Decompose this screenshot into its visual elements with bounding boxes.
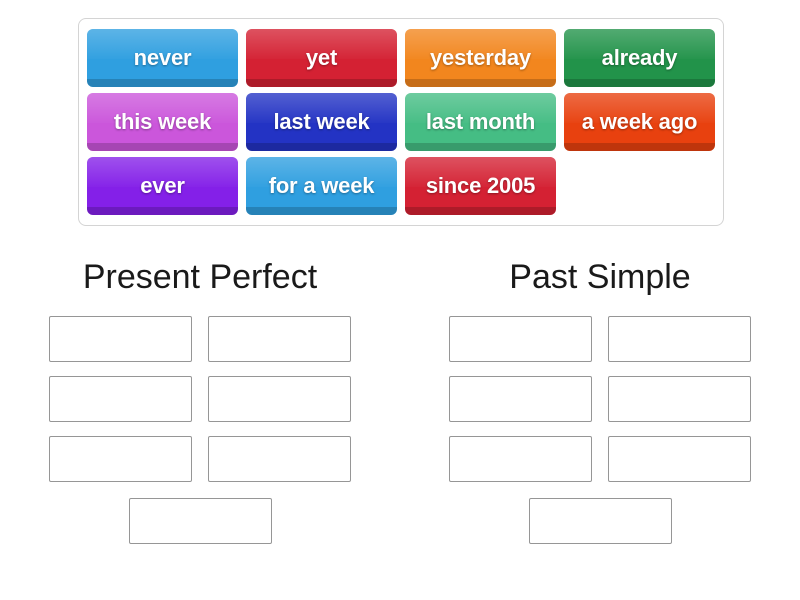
dropzone-slot[interactable] [449, 376, 592, 422]
dropzone-slot[interactable] [129, 498, 272, 544]
dropzone-slot[interactable] [608, 316, 751, 362]
category-column: Past Simple [400, 248, 800, 588]
word-tile[interactable]: this week [87, 93, 238, 151]
word-tile[interactable]: yet [246, 29, 397, 87]
category-column: Present Perfect [0, 248, 400, 588]
word-tile-label: yet [306, 45, 337, 71]
category-title: Present Perfect [83, 260, 317, 294]
word-tile-label: a week ago [582, 109, 697, 135]
dropzone-grid [445, 316, 755, 544]
dropzone-slot[interactable] [608, 376, 751, 422]
word-tile[interactable]: never [87, 29, 238, 87]
word-tile-label: already [602, 45, 678, 71]
dropzone-slot[interactable] [208, 316, 351, 362]
word-tile-label: yesterday [430, 45, 531, 71]
word-tile-label: ever [140, 173, 184, 199]
dropzone-slot[interactable] [449, 436, 592, 482]
word-tile-label: for a week [269, 173, 375, 199]
word-tile-label: last month [426, 109, 535, 135]
dropzone-slot[interactable] [449, 316, 592, 362]
tray-empty-slot [564, 157, 715, 215]
word-tile-label: never [134, 45, 192, 71]
dropzone-slot[interactable] [208, 436, 351, 482]
word-tile[interactable]: since 2005 [405, 157, 556, 215]
word-tile[interactable]: a week ago [564, 93, 715, 151]
word-tile[interactable]: already [564, 29, 715, 87]
dropzone-slot[interactable] [49, 316, 192, 362]
word-tile-tray: neveryetyesterdayalreadythis weeklast we… [78, 18, 724, 226]
dropzone-slot[interactable] [49, 376, 192, 422]
group-sort-activity: neveryetyesterdayalreadythis weeklast we… [0, 0, 800, 600]
word-tile[interactable]: yesterday [405, 29, 556, 87]
word-tile[interactable]: ever [87, 157, 238, 215]
tile-row: this weeklast weeklast montha week ago [87, 93, 715, 151]
tile-row: everfor a weeksince 2005 [87, 157, 715, 215]
dropzone-slot[interactable] [529, 498, 672, 544]
word-tile-label: last week [273, 109, 369, 135]
dropzone-slot[interactable] [208, 376, 351, 422]
word-tile[interactable]: last week [246, 93, 397, 151]
category-columns: Present PerfectPast Simple [0, 248, 800, 588]
word-tile[interactable]: last month [405, 93, 556, 151]
dropzone-grid [45, 316, 355, 544]
dropzone-slot[interactable] [49, 436, 192, 482]
category-title: Past Simple [509, 260, 690, 294]
tile-row: neveryetyesterdayalready [87, 29, 715, 87]
word-tile[interactable]: for a week [246, 157, 397, 215]
word-tile-label: this week [114, 109, 211, 135]
dropzone-slot[interactable] [608, 436, 751, 482]
word-tile-label: since 2005 [426, 173, 535, 199]
